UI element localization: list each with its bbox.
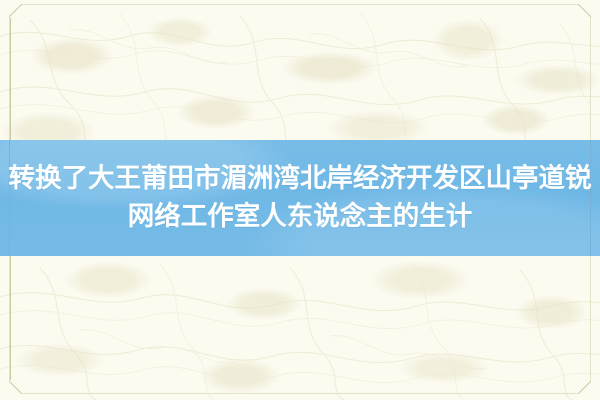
frame-rail-right (590, 140, 591, 256)
image-canvas: 转换了大王莆田市湄洲湾北岸经济开发区山亭道锐 网络工作室人东说念主的生计 (0, 0, 600, 400)
caption-line-1: 转换了大王莆田市湄洲湾北岸经济开发区山亭道锐 (9, 160, 592, 198)
frame-rail-left (9, 140, 10, 256)
caption-band: 转换了大王莆田市湄洲湾北岸经济开发区山亭道锐 网络工作室人东说念主的生计 (0, 140, 600, 256)
caption-line-2: 网络工作室人东说念主的生计 (128, 198, 473, 236)
